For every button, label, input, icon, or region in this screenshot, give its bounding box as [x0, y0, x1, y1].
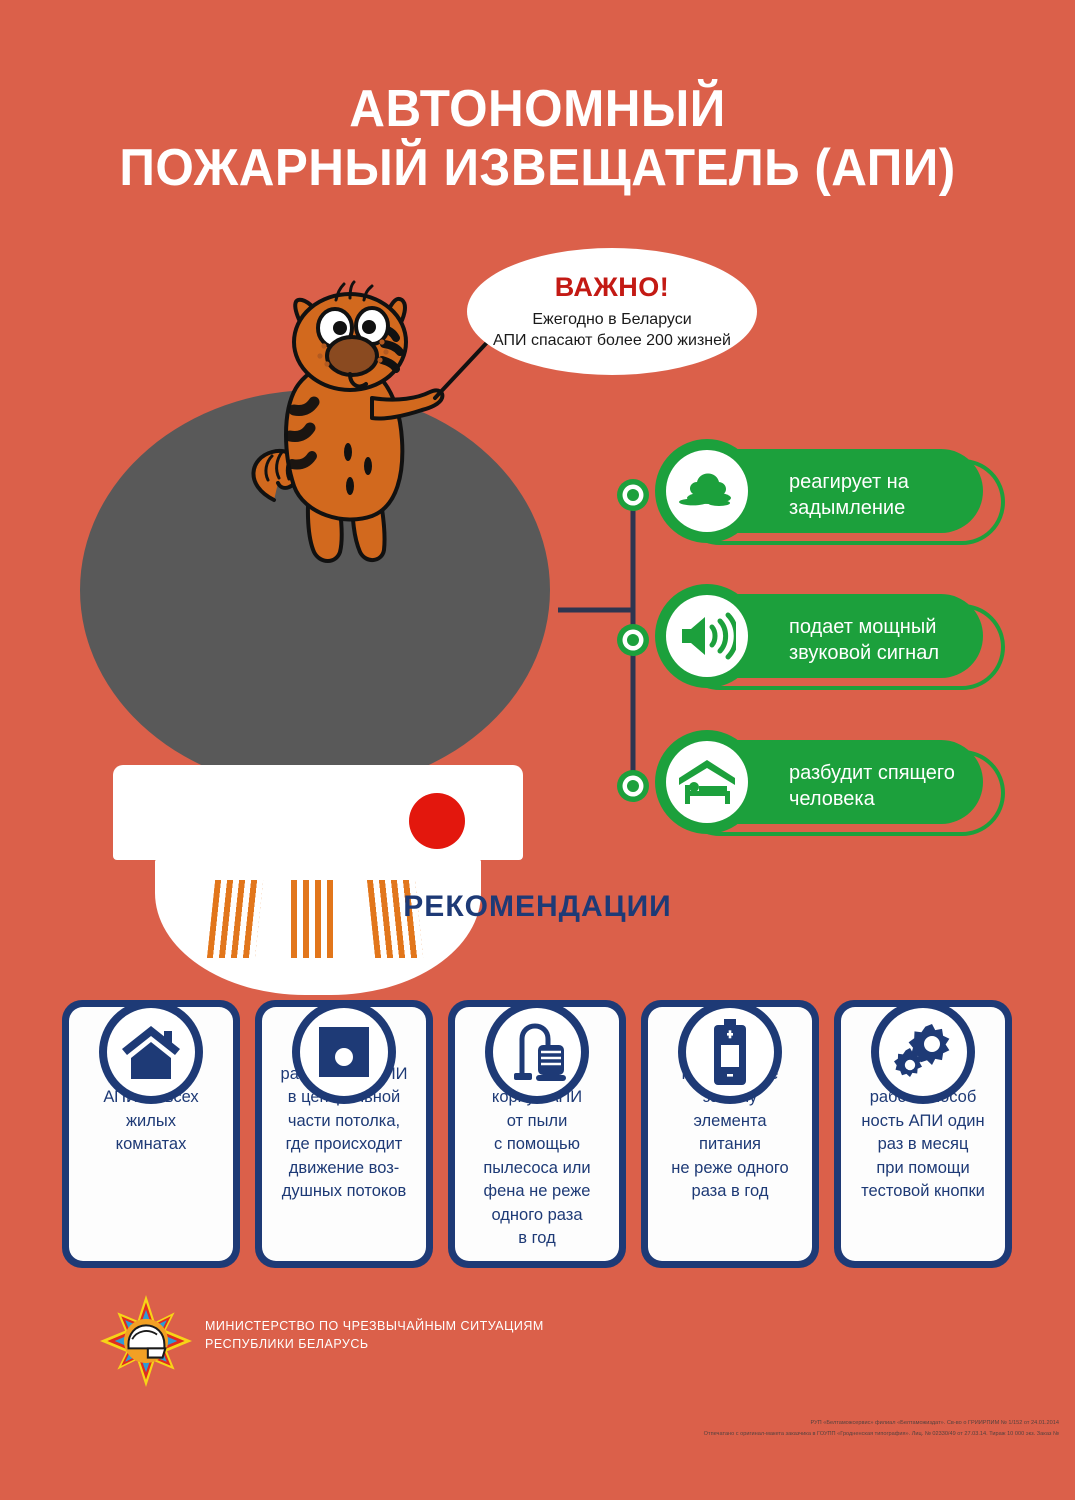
- recommendation-card-testing[interactable]: проверяйте работоспособ ность АПИ один р…: [834, 1000, 1012, 1268]
- recommendation-card-battery[interactable]: производите замену элемента питания не р…: [641, 1000, 819, 1268]
- card-badge: [678, 1000, 782, 1104]
- connector-node: [617, 770, 649, 802]
- feature-badge: [655, 439, 759, 543]
- recommendations-heading: РЕКОМЕНДАЦИИ: [0, 890, 1075, 924]
- card-badge: [485, 1000, 589, 1104]
- ministry-name: МИНИСТЕРСТВО ПО ЧРЕЗВЫЧАЙНЫМ СИТУАЦИЯМ Р…: [205, 1317, 544, 1353]
- imprint-fineprint: РУП «Белтаможсервис» филиал «Белтаможизд…: [0, 1418, 1075, 1439]
- feature-label-sound: подает мощный звуковой сигнал: [789, 614, 999, 667]
- house-icon: [120, 1023, 182, 1081]
- feature-badge: [655, 730, 759, 834]
- hero-illustration: ВАЖНО! Ежегодно в Беларуси АПИ спасают б…: [0, 230, 1075, 870]
- feature-label-line2: задымление: [789, 495, 999, 521]
- card-badge: [871, 1000, 975, 1104]
- sleeping-person-icon: [677, 758, 737, 806]
- speaker-sound-icon: [678, 612, 736, 660]
- page-title: АВТОНОМНЫЙ ПОЖАРНЫЙ ИЗВЕЩАТЕЛЬ (АПИ): [0, 80, 1075, 199]
- gears-icon: [892, 1022, 954, 1082]
- feature-badge: [655, 584, 759, 688]
- vacuum-cleaner-icon: [508, 1021, 566, 1083]
- card-badge: [99, 1000, 203, 1104]
- smoke-cloud-icon: [677, 469, 737, 513]
- feature-label-line2: человека: [789, 786, 999, 812]
- poster-root: АВТОНОМНЫЙ ПОЖАРНЫЙ ИЗВЕЩАТЕЛЬ (АПИ): [0, 0, 1075, 1500]
- recommendation-card-placement[interactable]: разместите АПИ в центральной части потол…: [255, 1000, 433, 1268]
- feature-label-smoke: реагирует на задымление: [789, 469, 999, 522]
- connector-node: [617, 624, 649, 656]
- mes-logo: [100, 1295, 192, 1387]
- feature-label-line2: звуковой сигнал: [789, 640, 999, 666]
- feature-item-smoke[interactable]: реагирует на задымление: [655, 445, 1005, 545]
- feature-item-sound[interactable]: подает мощный звуковой сигнал: [655, 590, 1005, 690]
- footer: МИНИСТЕРСТВО ПО ЧРЕЗВЫЧАЙНЫМ СИТУАЦИЯМ Р…: [0, 1285, 1075, 1405]
- feature-label-line1: подает мощный: [789, 614, 999, 640]
- feature-label-line1: разбудит спящего: [789, 760, 999, 786]
- title-line-1: АВТОНОМНЫЙ: [27, 80, 1048, 139]
- recommendation-card-install[interactable]: установите АПИ во всех жилых комнатах: [62, 1000, 240, 1268]
- feature-label-wake: разбудит спящего человека: [789, 760, 999, 813]
- recommendation-cards: установите АПИ во всех жилых комнатах ра…: [62, 945, 1013, 1255]
- feature-item-wake[interactable]: разбудит спящего человека: [655, 736, 1005, 836]
- battery-icon: [711, 1019, 749, 1085]
- connector-node: [617, 479, 649, 511]
- feature-label-line1: реагирует на: [789, 469, 999, 495]
- ceiling-detector-icon: [316, 1024, 372, 1080]
- title-line-2: ПОЖАРНЫЙ ИЗВЕЩАТЕЛЬ (АПИ): [27, 139, 1048, 198]
- recommendation-card-cleaning[interactable]: очищайте корпус АПИ от пыли с помощью пы…: [448, 1000, 626, 1268]
- card-badge: [292, 1000, 396, 1104]
